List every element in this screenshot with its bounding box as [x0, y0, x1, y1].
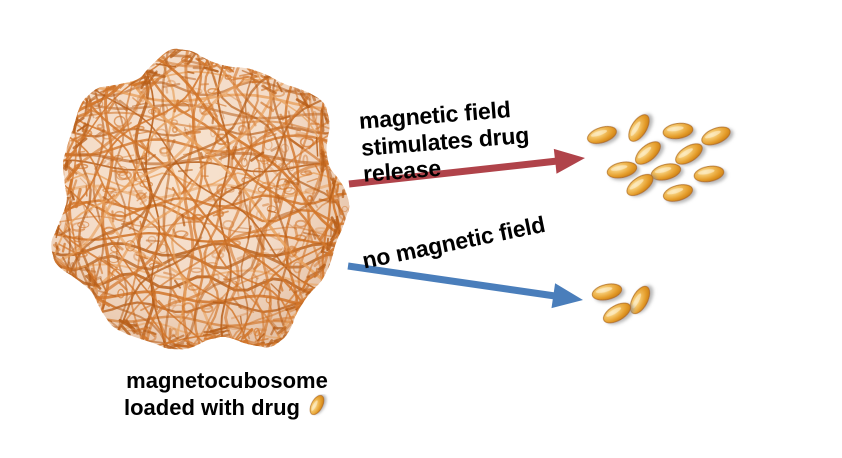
drug-molecule [591, 281, 624, 302]
drug-molecule [625, 111, 654, 144]
drug-molecule [699, 123, 732, 148]
magnetic-field-arrow-label: magnetic field stimulates drug release [358, 95, 532, 188]
drug-molecule-icon [306, 394, 330, 418]
caption-line-1: magnetocubosome [112, 368, 342, 394]
magnetocubosome-drug-release-figure: magnetic field stimulates drug release n… [0, 0, 842, 458]
drug-molecule-icon [306, 394, 330, 424]
drug-molecule [585, 123, 618, 147]
caption-line-2-wrap: loaded with drug [112, 394, 342, 424]
drug-molecule [662, 121, 694, 140]
magnetocubosome-caption: magnetocubosome loaded with drug [112, 368, 342, 423]
unreleased-drug-group [591, 281, 654, 327]
drug-molecule [650, 161, 683, 183]
drug-molecule [662, 182, 695, 205]
drug-molecule [632, 138, 665, 169]
drug-molecule [600, 299, 633, 327]
caption-line-2: loaded with drug [124, 395, 300, 421]
released-drug-group [585, 111, 732, 204]
drug-molecule [626, 283, 653, 317]
drug-molecule [672, 140, 705, 169]
drug-molecule [693, 164, 725, 184]
drug-molecule [606, 160, 638, 181]
